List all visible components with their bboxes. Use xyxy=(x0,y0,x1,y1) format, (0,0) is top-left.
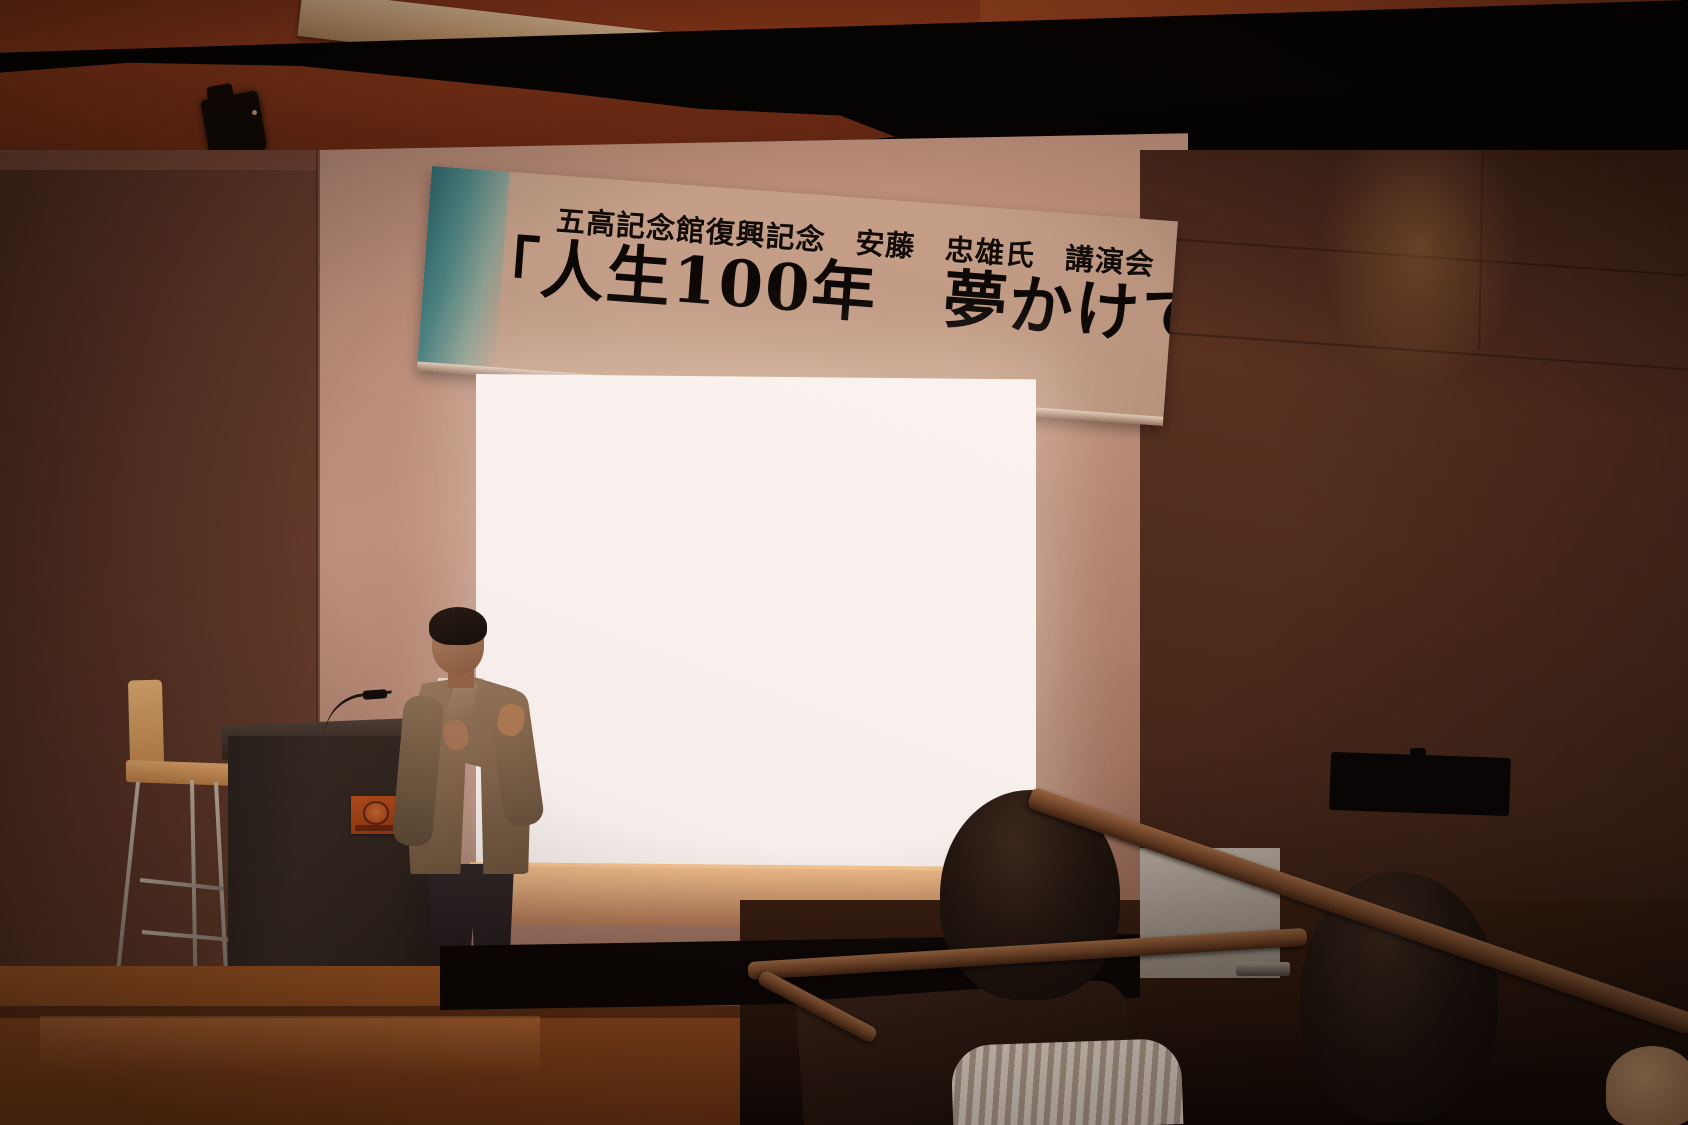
stool-backrest xyxy=(128,680,164,765)
plaque-text-block xyxy=(355,825,393,831)
foreground-object xyxy=(1236,962,1290,976)
foreground-hand xyxy=(1606,1046,1688,1125)
av-equipment-knob xyxy=(1410,748,1426,760)
audience-striped-shirt xyxy=(951,1038,1184,1125)
stool-seat xyxy=(126,760,238,786)
wall-light-glow xyxy=(1320,150,1520,390)
speaker-hair xyxy=(429,607,487,645)
stage-floor-reflection xyxy=(40,1016,540,1076)
stage-light-glint xyxy=(252,110,257,115)
podium-emblem-plaque xyxy=(351,796,397,834)
microphone-head-icon xyxy=(363,689,388,700)
projection-screen xyxy=(476,374,1036,871)
lecture-hall-photo: 五高記念館復興記念 安藤 忠雄氏 講演会 「人生100年 夢かけて生きる」 xyxy=(0,0,1688,1125)
emblem-icon xyxy=(363,801,389,825)
av-equipment-box xyxy=(1329,752,1511,816)
